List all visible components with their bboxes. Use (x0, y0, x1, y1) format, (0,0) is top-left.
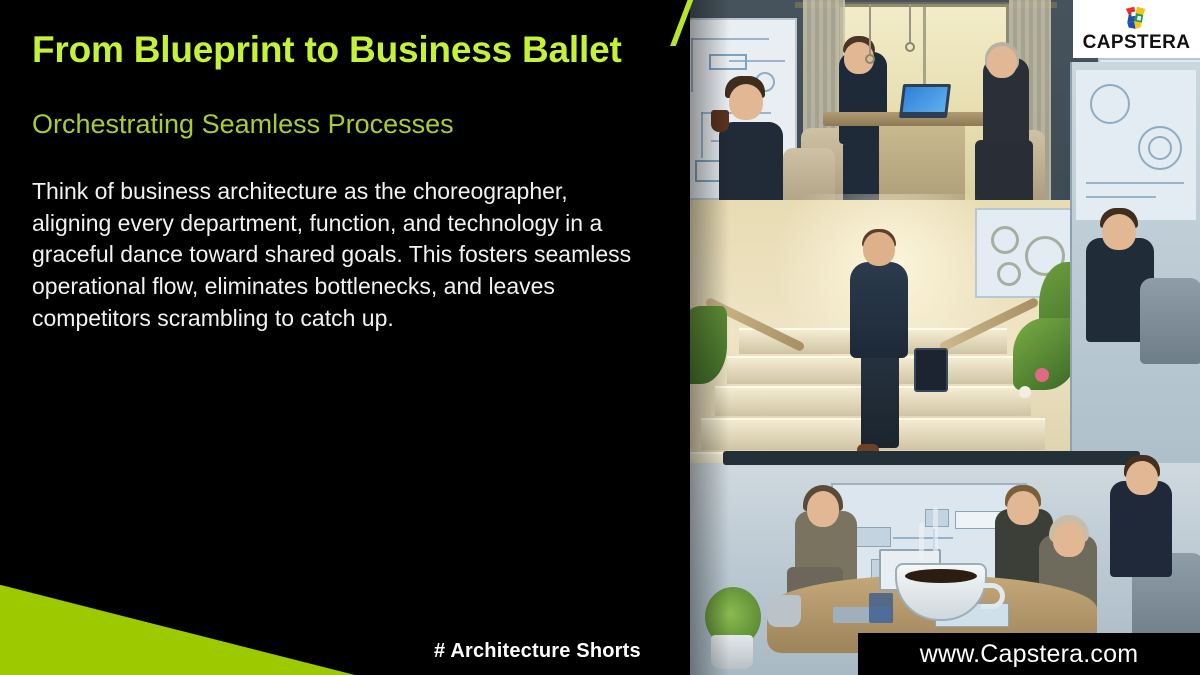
slide-subtitle: Orchestrating Seamless Processes (32, 108, 632, 140)
text-block: From Blueprint to Business Ballet Orches… (32, 28, 632, 334)
water-glass (869, 593, 893, 623)
climbing-man-legs (861, 350, 899, 448)
hashtag-label: # Architecture Shorts (434, 640, 641, 663)
illustration-panel (683, 0, 1200, 675)
plant-pot (711, 635, 753, 669)
blueprint-right-column (1076, 70, 1196, 220)
website-url-box[interactable]: www.Capstera.com (858, 633, 1200, 675)
head-table-right-b (1053, 523, 1085, 557)
office-chair-right (1140, 278, 1200, 364)
capstera-logo-mark (1120, 6, 1154, 31)
head-table-left (807, 491, 839, 527)
right-office-column (1070, 62, 1200, 482)
coffee-cup-small (711, 110, 729, 132)
capstera-wordmark: CAPSTERA (1083, 33, 1191, 52)
laptop (899, 84, 951, 118)
flower-white (1019, 386, 1031, 398)
climbing-man-head (863, 232, 895, 266)
head-bottom-right (1126, 461, 1158, 495)
capstera-logo[interactable]: CAPSTERA (1073, 0, 1200, 58)
presentation-slide: From Blueprint to Business Ballet Orches… (0, 0, 1200, 675)
climbing-man-torso (850, 262, 908, 358)
briefcase (914, 348, 948, 392)
person-bottom-right (1110, 481, 1172, 577)
slide-title: From Blueprint to Business Ballet (32, 28, 632, 72)
slide-body-text: Think of business architecture as the ch… (32, 176, 632, 335)
text-panel: From Blueprint to Business Ballet Orches… (0, 0, 690, 675)
website-url-text: www.Capstera.com (920, 640, 1139, 669)
flower (1035, 368, 1049, 382)
head-worker-left (729, 84, 763, 120)
head-right-column (1102, 214, 1136, 250)
mug-left (767, 595, 801, 627)
head-right (987, 46, 1017, 78)
head-table-right-a (1007, 491, 1039, 525)
overhead-beam (723, 451, 1140, 465)
